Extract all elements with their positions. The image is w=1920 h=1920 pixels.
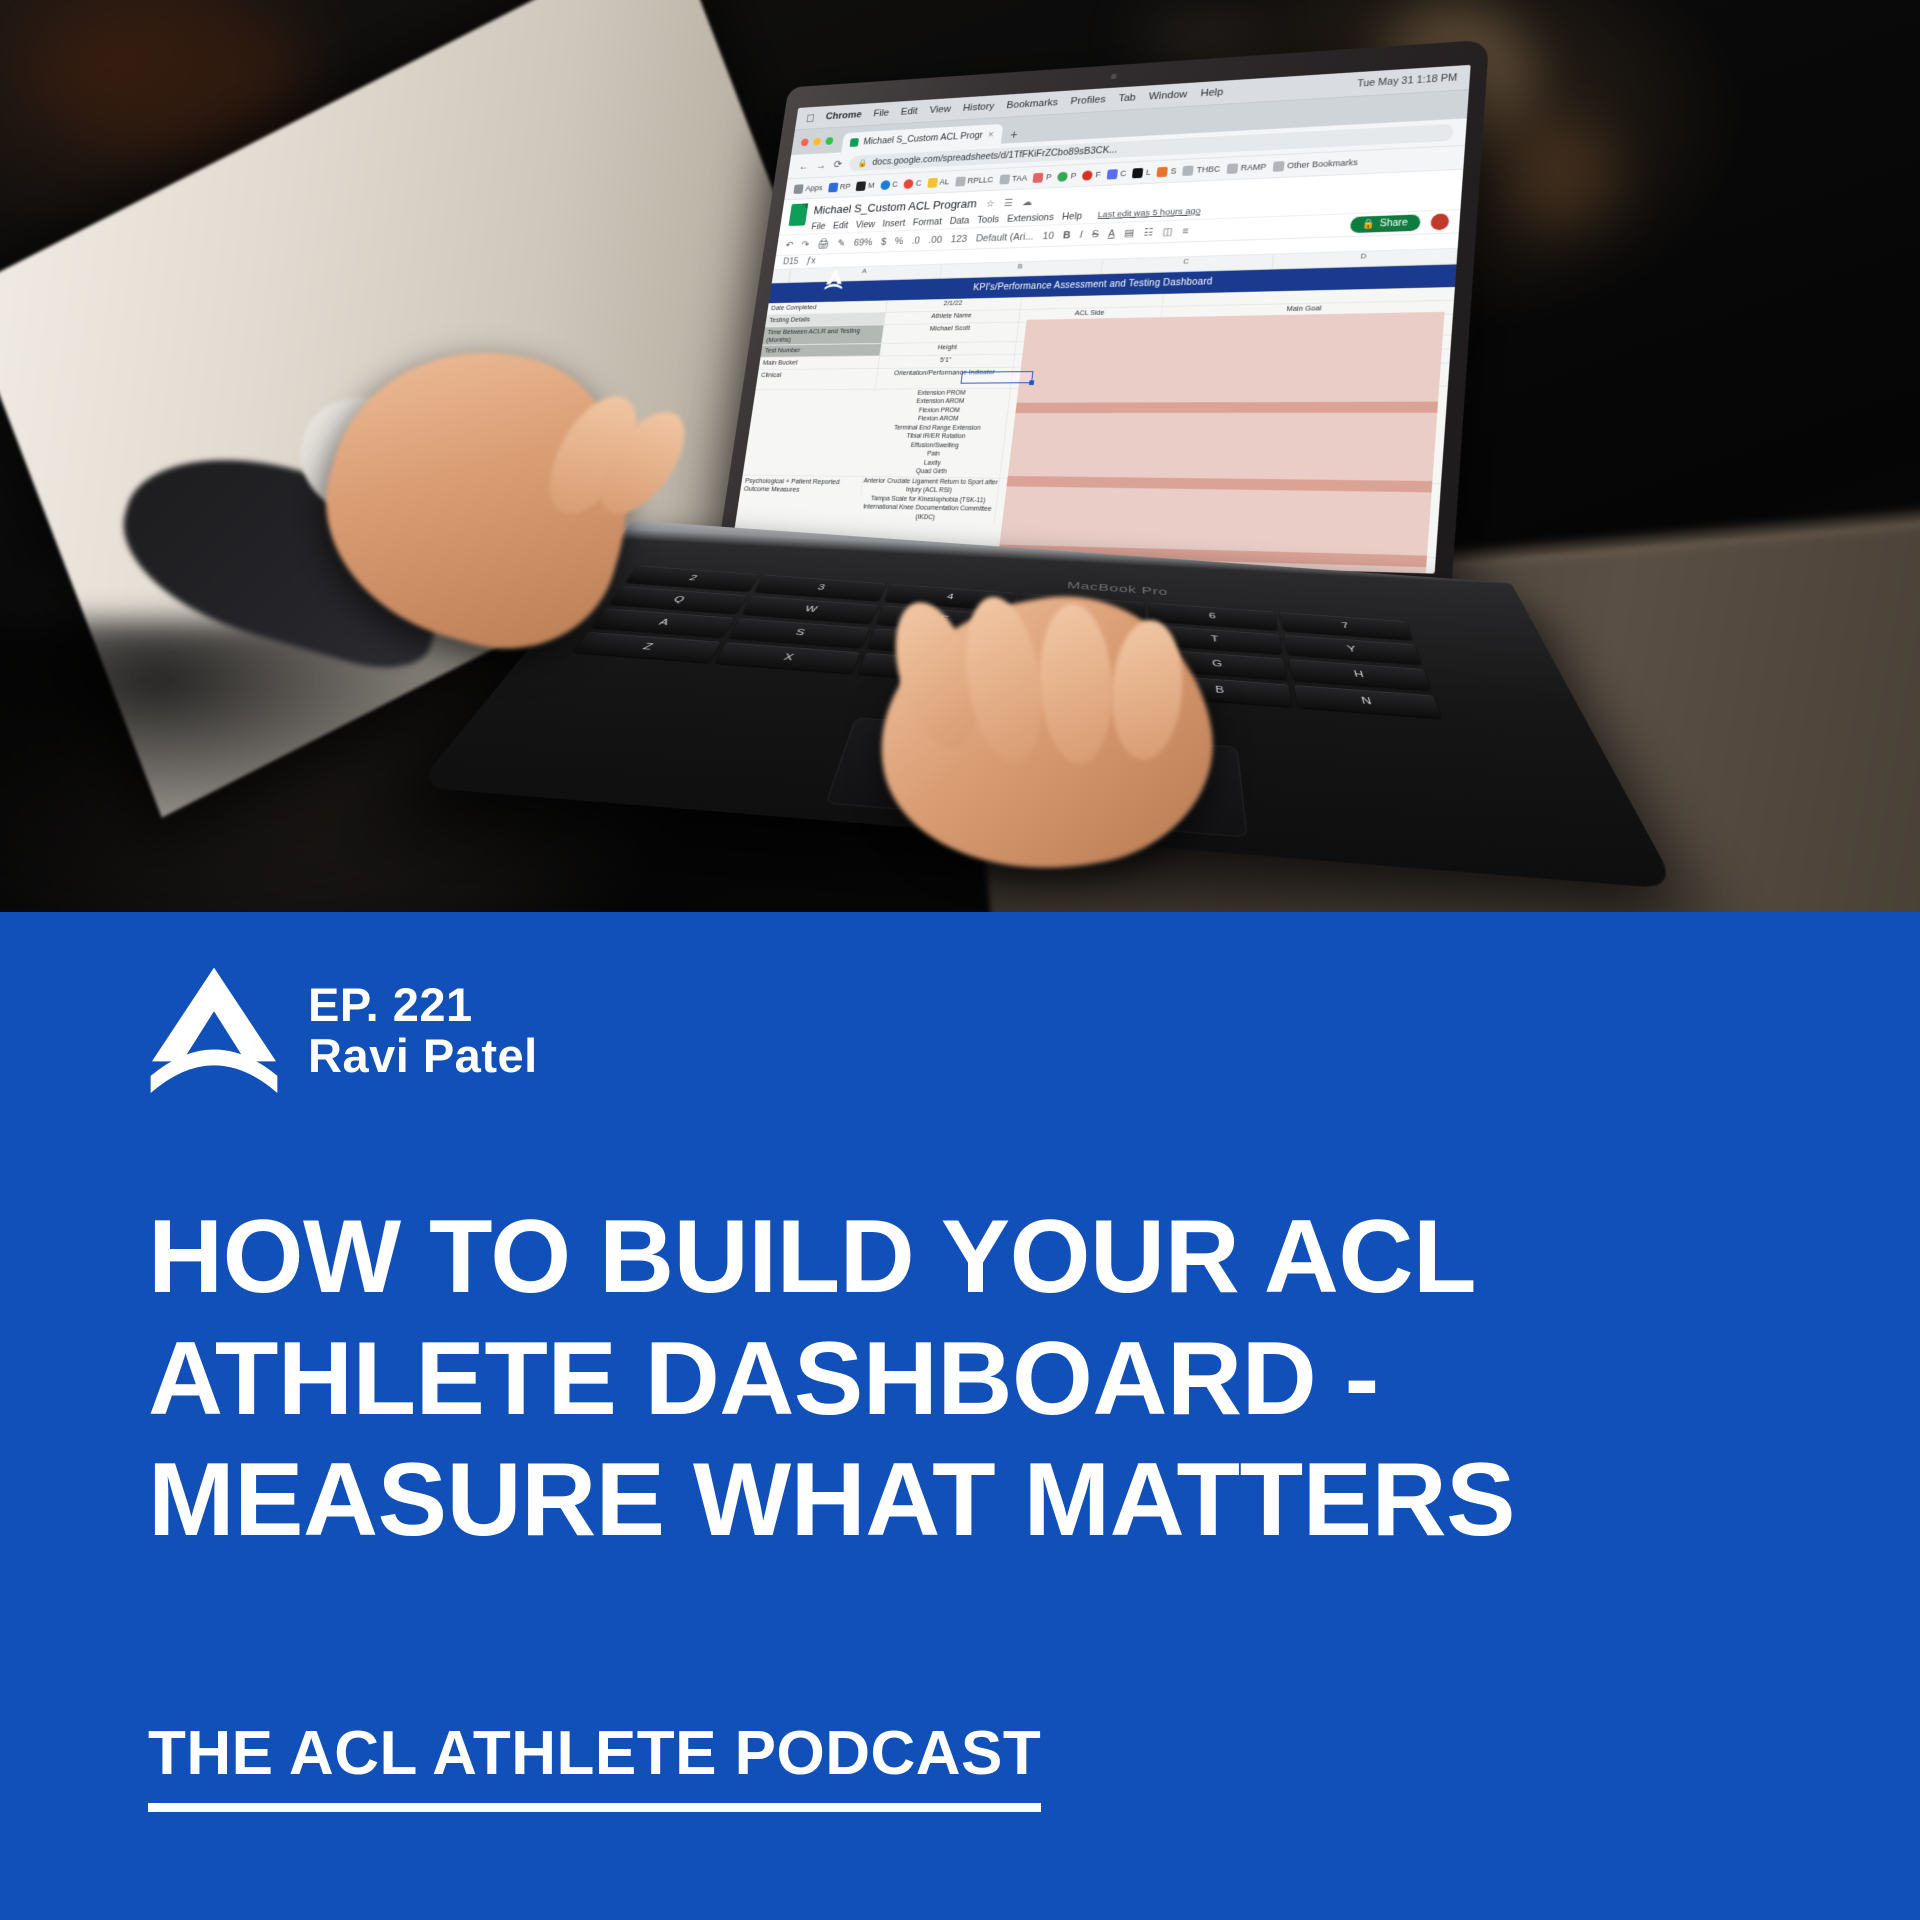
banner-title: KPI's/Performance Assessment and Testing…: [972, 277, 1213, 293]
back-icon[interactable]: ←: [798, 160, 810, 172]
bookmark-icon: [903, 179, 914, 189]
bookmark-label: S: [1170, 166, 1177, 175]
bookmark-item[interactable]: TAA: [999, 173, 1028, 184]
currency-icon[interactable]: $: [880, 236, 887, 247]
menubar-item-help[interactable]: Help: [1200, 87, 1224, 99]
macbook-pro-label: MacBook Pro: [1067, 580, 1168, 598]
list-item: Flexion PROM: [872, 406, 1008, 415]
score-band: [1007, 476, 1433, 492]
row-value: Height: [880, 342, 1016, 356]
strikethrough-icon[interactable]: S: [1091, 229, 1099, 240]
bookmark-icon: [1107, 169, 1118, 179]
document-title[interactable]: Michael S_Custom ACL Program: [813, 197, 978, 217]
bookmark-label: THBC: [1196, 164, 1221, 174]
bookmark-icon: [1132, 167, 1143, 177]
sheets-menu-format[interactable]: Format: [912, 216, 942, 228]
decimal-increase-icon[interactable]: .00: [928, 234, 943, 245]
corner-cell[interactable]: [772, 269, 791, 282]
row-label: Testing Details: [765, 313, 886, 327]
sheets-menu-help[interactable]: Help: [1061, 211, 1082, 223]
menubar-item-tab[interactable]: Tab: [1118, 92, 1136, 104]
bookmark-label: M: [868, 181, 876, 190]
selected-cell[interactable]: [961, 371, 1034, 384]
key[interactable]: X: [715, 642, 861, 673]
bookmark-item[interactable]: RP: [828, 182, 851, 192]
avatar[interactable]: [1430, 213, 1449, 230]
bookmark-icon: [1157, 166, 1169, 176]
sheets-menu-insert[interactable]: Insert: [882, 218, 906, 229]
bookmark-item[interactable]: THBC: [1183, 164, 1221, 176]
print-icon[interactable]: 🖨: [817, 238, 830, 250]
bookmark-label: C: [1120, 169, 1127, 178]
cover-photo:  Chrome File Edit View History Bookmark…: [0, 0, 1920, 912]
key[interactable]: N: [1294, 685, 1442, 718]
borders-icon[interactable]: ☷: [1143, 226, 1154, 238]
list-item: Quad Girth: [864, 467, 1001, 477]
bookmark-label: L: [1146, 168, 1152, 177]
new-tab-button[interactable]: +: [1004, 127, 1024, 144]
bookmark-label: TAA: [1011, 174, 1027, 183]
acl-athlete-arrow-logo: [148, 964, 280, 1098]
sheets-menu-view[interactable]: View: [855, 219, 876, 230]
bookmark-item[interactable]: F: [1082, 170, 1101, 181]
bookmark-item[interactable]: Apps: [793, 183, 823, 194]
laptop-lid:  Chrome File Edit View History Bookmark…: [715, 40, 1490, 596]
row-value: 5'1": [878, 355, 1015, 368]
menubar-item-file[interactable]: File: [873, 108, 890, 119]
reload-icon[interactable]: ⟳: [833, 158, 843, 170]
fx-icon: ƒx: [806, 256, 816, 266]
bookmark-icon: [828, 182, 839, 192]
share-button[interactable]: 🔒 Share: [1350, 214, 1421, 233]
row-label: [755, 390, 875, 392]
text-color-icon[interactable]: A: [1108, 228, 1116, 239]
clinical-indicator-list: Extension PROM Extension AROM Flexion PR…: [864, 389, 1011, 477]
sheets-menu-edit[interactable]: Edit: [832, 220, 849, 231]
episode-block: EP. 221 Ravi Patel: [148, 964, 538, 1098]
bookmark-icon: [1057, 171, 1068, 181]
bookmark-label: RP: [839, 182, 851, 191]
maximize-window-icon[interactable]: [825, 137, 834, 145]
close-tab-icon[interactable]: ×: [987, 129, 994, 140]
bookmark-label: P: [1070, 171, 1077, 180]
stack: Extension PROM Extension AROM Flexion PR…: [864, 389, 1010, 477]
bookmark-label: Apps: [805, 183, 823, 192]
list-item: Anterior Cruciate Ligament Return to Spo…: [861, 477, 999, 497]
bookmark-label: C: [915, 179, 922, 188]
cloud-status-icon: ☁: [1022, 197, 1033, 208]
row-label: Time Between ACLR and Testing (Months): [762, 325, 884, 345]
folder-icon: [927, 177, 938, 187]
episode-number: EP. 221: [308, 980, 538, 1031]
webcam-icon: [1111, 74, 1117, 80]
episode-title: HOW TO BUILD YOUR ACL ATHLETE DASHBOARD …: [148, 1197, 1800, 1562]
psych-indicator-list: Anterior Cruciate Ligament Return to Spo…: [858, 477, 1001, 524]
bookmark-item[interactable]: RPLLC: [955, 175, 994, 186]
move-folder-icon[interactable]: ☰: [1003, 198, 1013, 209]
align-icon[interactable]: ≡: [1182, 225, 1189, 236]
left-band: [1015, 402, 1438, 413]
font-family-select[interactable]: Default (Ari...: [975, 231, 1034, 244]
bookmark-item[interactable]: L: [1132, 167, 1151, 178]
menubar-item-bookmarks[interactable]: Bookmarks: [1006, 97, 1059, 111]
stack: Anterior Cruciate Ligament Return to Spo…: [858, 477, 1000, 524]
row-label: Test Number: [761, 344, 882, 357]
episode-text: EP. 221 Ravi Patel: [308, 980, 538, 1082]
percent-icon[interactable]: %: [894, 236, 904, 247]
other-bookmarks-label: Other Bookmarks: [1287, 158, 1358, 171]
menubar-clock[interactable]: Tue May 31 1:18 PM: [1357, 72, 1458, 89]
menubar-item-history[interactable]: History: [962, 101, 995, 113]
bold-icon[interactable]: B: [1063, 230, 1072, 241]
podcast-cover:  Chrome File Edit View History Bookmark…: [0, 0, 1920, 1920]
bookmark-item[interactable]: P: [1057, 171, 1076, 182]
bookmark-item[interactable]: S: [1157, 166, 1177, 177]
bookmark-item[interactable]: RAMP: [1227, 162, 1267, 174]
episode-title-line-2: ATHLETE DASHBOARD -: [148, 1319, 1800, 1441]
cell-reference[interactable]: D15: [782, 257, 799, 267]
bookmark-icon: [880, 180, 891, 190]
acl-athlete-arrow-logo-small: [822, 268, 847, 291]
title-panel: EP. 221 Ravi Patel HOW TO BUILD YOUR ACL…: [0, 912, 1920, 1920]
episode-title-line-1: HOW TO BUILD YOUR ACL: [148, 1197, 1800, 1319]
folder-icon: [1183, 165, 1195, 175]
lock-icon: 🔒: [1362, 219, 1376, 230]
zoom-level[interactable]: 69%: [853, 237, 873, 248]
apple-logo-icon: : [806, 112, 816, 123]
menubar-item-window[interactable]: Window: [1148, 89, 1188, 102]
font-size-select[interactable]: 10: [1042, 230, 1055, 241]
folder-icon: [999, 174, 1010, 184]
menubar-item-edit[interactable]: Edit: [900, 106, 918, 117]
row-value: Michael Scott: [882, 323, 1019, 343]
paint-format-icon[interactable]: ✎: [837, 237, 846, 248]
bookmark-icon: [1033, 172, 1044, 182]
bookmark-item[interactable]: M: [856, 180, 875, 190]
list-item: Flexion AROM: [871, 415, 1007, 424]
sheets-menu-tools[interactable]: Tools: [977, 214, 1000, 225]
undo-icon[interactable]: ↶: [785, 239, 794, 250]
sheets-menu-file[interactable]: File: [811, 221, 827, 232]
row-label: Main Bucket: [759, 356, 880, 369]
show-name: THE ACL ATHLETE PODCAST: [148, 1718, 1041, 1812]
bookmark-label: C: [892, 180, 899, 189]
episode-title-line-3: MEASURE WHAT MATTERS: [148, 1440, 1800, 1562]
bookmark-icon: [856, 181, 867, 191]
forward-icon[interactable]: →: [816, 159, 828, 171]
menubar-spacer: [1237, 85, 1343, 92]
lock-icon: 🔒: [857, 158, 868, 168]
folder-icon: [1227, 163, 1239, 174]
fill-color-icon[interactable]: ▤: [1124, 227, 1135, 239]
key[interactable]: Z: [573, 632, 721, 663]
browser-tab-title: Michael S_Custom ACL Progr: [863, 130, 984, 147]
bookmark-label: F: [1095, 170, 1101, 179]
bookmark-label: RPLLC: [967, 175, 994, 185]
other-bookmarks-button[interactable]: Other Bookmarks: [1273, 157, 1358, 171]
redo-icon[interactable]: ↷: [801, 239, 810, 250]
bookmark-item[interactable]: P: [1033, 172, 1052, 183]
row-label: Clinical: [756, 369, 879, 389]
number-format-icon[interactable]: 123: [950, 233, 968, 244]
list-item: Extension AROM: [873, 398, 1009, 407]
bookmark-item[interactable]: C: [1107, 168, 1127, 179]
decimal-decrease-icon[interactable]: .0: [911, 235, 920, 246]
sheets-menu-extensions[interactable]: Extensions: [1007, 212, 1055, 225]
guest-name: Ravi Patel: [308, 1031, 538, 1082]
close-window-icon[interactable]: [801, 138, 809, 146]
merge-cells-icon[interactable]: ◫: [1162, 225, 1173, 237]
folder-icon: [1273, 161, 1285, 172]
sheets-favicon-icon: [850, 138, 860, 147]
bokeh-light: [40, 0, 300, 150]
bookmark-item[interactable]: AL: [927, 177, 950, 188]
list-item: International Knee Documentation Committ…: [858, 503, 996, 523]
folder-icon: [955, 176, 966, 186]
apps-grid-icon: [793, 184, 803, 194]
italic-icon[interactable]: I: [1079, 229, 1083, 240]
menubar-item-view[interactable]: View: [929, 104, 952, 115]
spreadsheet-grid: A B C D KPI's/Performance Assessment and…: [731, 249, 1458, 574]
bookmark-item[interactable]: C: [903, 178, 922, 188]
score-column-highlight: [975, 312, 1445, 574]
bookmark-label: P: [1046, 172, 1053, 181]
psych-label: Psychological + Patient Reported Outcome…: [740, 475, 864, 495]
bookmark-label: RAMP: [1240, 162, 1266, 172]
last-edit-status[interactable]: Last edit was 5 hours ago: [1097, 206, 1201, 221]
minimize-window-icon[interactable]: [813, 137, 822, 145]
google-sheets-icon: [789, 203, 809, 226]
bookmark-icon: [1082, 170, 1093, 180]
share-label: Share: [1379, 218, 1408, 230]
bookmark-label: AL: [939, 177, 950, 186]
window-traffic-lights[interactable]: [801, 137, 834, 146]
bookmark-item[interactable]: C: [880, 179, 899, 189]
star-icon[interactable]: ☆: [985, 199, 995, 210]
sheets-menu-data[interactable]: Data: [949, 215, 970, 226]
laptop-screen:  Chrome File Edit View History Bookmark…: [731, 65, 1471, 574]
menubar-item-profiles[interactable]: Profiles: [1070, 94, 1106, 107]
menubar-app-name[interactable]: Chrome: [825, 110, 862, 122]
